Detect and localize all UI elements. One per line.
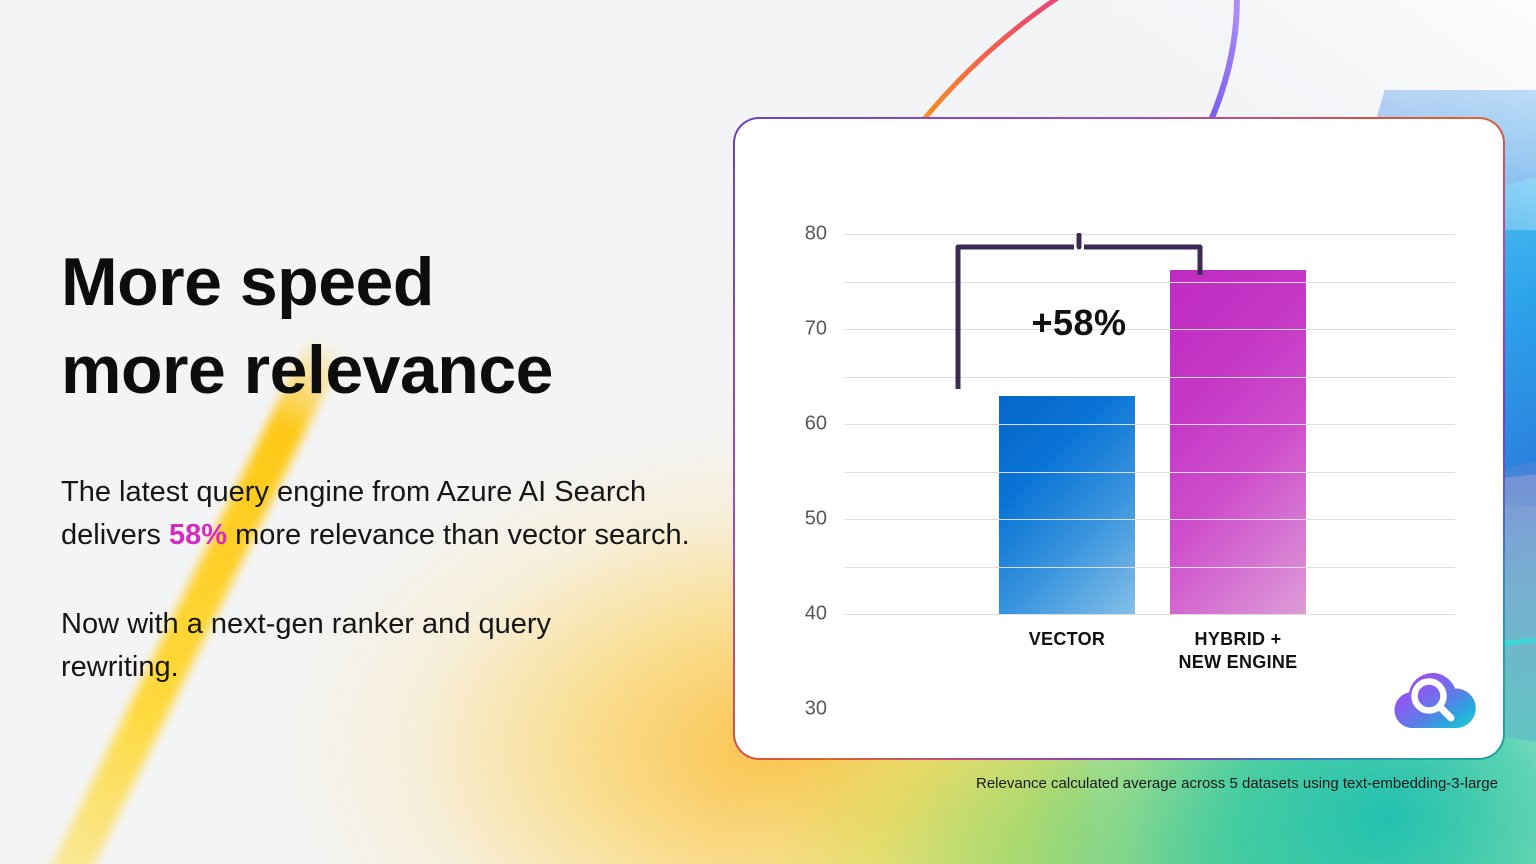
y-axis-tick-label: 50 xyxy=(805,508,827,531)
delta-percentage-label: +58% xyxy=(949,302,1209,344)
gridline: 10 xyxy=(845,567,1455,568)
gridline: 0 xyxy=(845,614,1455,615)
text-column: More speed more relevance The latest que… xyxy=(61,238,721,689)
gridline: 40 xyxy=(845,424,1455,425)
page-title: More speed more relevance xyxy=(61,238,721,414)
bar-chart: VECTOR HYBRID + NEW ENGINE 8070605040302… xyxy=(735,119,1503,758)
y-axis-tick-label: 80 xyxy=(805,223,827,246)
x-axis-label-vector: VECTOR xyxy=(967,628,1167,651)
y-axis-tick-label: 40 xyxy=(805,603,827,626)
y-axis-tick-label: 60 xyxy=(805,413,827,436)
bar-vector xyxy=(999,396,1135,615)
chart-card-inner: VECTOR HYBRID + NEW ENGINE 8070605040302… xyxy=(735,119,1503,758)
relevance-highlight: 58% xyxy=(169,519,227,551)
x-axis-label-hybrid: HYBRID + NEW ENGINE xyxy=(1138,628,1338,674)
y-axis-tick-label: 30 xyxy=(805,698,827,721)
gridline: 20 xyxy=(845,519,1455,520)
chart-footnote: Relevance calculated average across 5 da… xyxy=(976,775,1498,792)
paragraph-relevance: The latest query engine from Azure AI Se… xyxy=(61,471,716,557)
gridline: 30 xyxy=(845,472,1455,473)
azure-ai-search-cloud-icon xyxy=(1385,664,1481,736)
paragraph-ranker: Now with a next-gen ranker and query rew… xyxy=(61,603,661,689)
chart-card: VECTOR HYBRID + NEW ENGINE 8070605040302… xyxy=(733,117,1505,760)
y-axis-tick-label: 70 xyxy=(805,318,827,341)
paragraph-relevance-after: more relevance than vector search. xyxy=(227,519,690,551)
slide-canvas: More speed more relevance The latest que… xyxy=(0,0,1536,864)
